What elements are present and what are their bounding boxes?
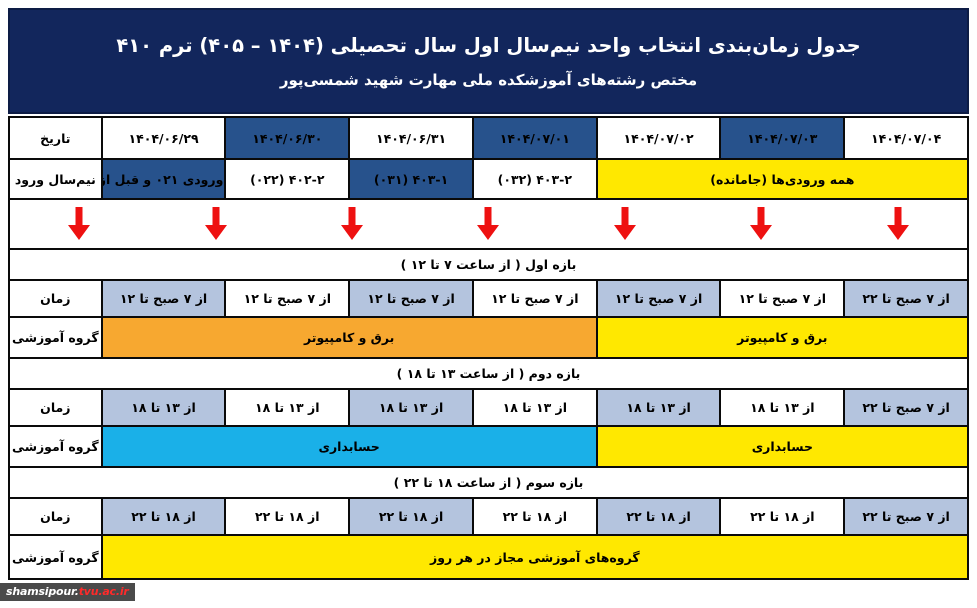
band-title-2: بازه دوم ( از ساعت ۱۳ تا ۱۸ ) — [9, 358, 968, 389]
table-row-entry-terms: همه ورودی‌ها (جامانده) ۴۰۳-۲ (۰۳۲) ۴۰۳-۱… — [9, 159, 968, 199]
table-row-band1-groups: برق و کامپیوتر برق و کامپیوتر گروه آموزش… — [9, 317, 968, 358]
band-title-3: بازه سوم ( از ساعت ۱۸ تا ۲۲ ) — [9, 467, 968, 498]
table-row-band-title-1: بازه اول ( از ساعت ۷ تا ۱۲ ) — [9, 249, 968, 280]
entry-term-cell-3: ۴۰۳-۱ (۰۳۱) — [349, 159, 473, 199]
arrow-strip-cell — [9, 199, 968, 249]
page-subtitle: مختص رشته‌های آموزشکده ملی مهارت شهید شم… — [280, 71, 697, 89]
table-row-final-groups: گروه‌های آموزشی مجاز در هر روز گروه آموز… — [9, 535, 968, 579]
arrow-slot-3 — [284, 206, 420, 242]
band3-time-cell-7: از ۷ صبح تا ۲۲ — [844, 498, 968, 535]
table-row-band2-groups: حسابداری حسابداری گروه آموزشی — [9, 426, 968, 467]
row-label-date: تاریخ — [9, 117, 102, 159]
entry-term-cell-4: ۴۰۳-۲ (۰۳۲) — [473, 159, 597, 199]
table-row-arrows — [9, 199, 968, 249]
row-label-entry-term: نیم‌سال ورود — [9, 159, 102, 199]
table-row-band-title-3: بازه سوم ( از ساعت ۱۸ تا ۲۲ ) — [9, 467, 968, 498]
band1-time-cell-2: از ۷ صبح تا ۱۲ — [225, 280, 349, 317]
band3-time-cell-2: از ۱۸ تا ۲۲ — [225, 498, 349, 535]
row-label-group-3: گروه آموزشی — [9, 535, 102, 579]
table-row-band3-times: از ۷ صبح تا ۲۲ از ۱۸ تا ۲۲ از ۱۸ تا ۲۲ ا… — [9, 498, 968, 535]
schedule-table: ۱۴۰۴/۰۷/۰۴ ۱۴۰۴/۰۷/۰۳ ۱۴۰۴/۰۷/۰۲ ۱۴۰۴/۰۷… — [8, 116, 969, 580]
arrow-down-icon — [612, 206, 638, 242]
band1-time-cell-5: از ۷ صبح تا ۱۲ — [597, 280, 721, 317]
table-row-band1-times: از ۷ صبح تا ۲۲ از ۷ صبح تا ۱۲ از ۷ صبح ت… — [9, 280, 968, 317]
arrow-slot-2 — [147, 206, 283, 242]
page-title: جدول زمان‌بندی انتخاب واحد نیم‌سال اول س… — [116, 34, 860, 57]
arrow-slot-6 — [693, 206, 829, 242]
band1-time-cell-7: از ۷ صبح تا ۲۲ — [844, 280, 968, 317]
band3-time-cell-1: از ۱۸ تا ۲۲ — [102, 498, 226, 535]
band2-time-cell-4: از ۱۳ تا ۱۸ — [473, 389, 597, 426]
arrow-slot-5 — [557, 206, 693, 242]
band1-time-cell-1: از ۷ صبح تا ۱۲ — [102, 280, 226, 317]
date-cell-3: ۱۴۰۴/۰۶/۳۱ — [349, 117, 473, 159]
band1-group-primary: برق و کامپیوتر — [102, 317, 597, 358]
band2-group-secondary: حسابداری — [597, 426, 968, 467]
final-row-text: گروه‌های آموزشی مجاز در هر روز — [102, 535, 968, 579]
site-watermark: shamsipour.tvu.ac.ir — [0, 583, 135, 601]
band2-group-primary: حسابداری — [102, 426, 597, 467]
date-cell-7: ۱۴۰۴/۰۷/۰۴ — [844, 117, 968, 159]
band2-time-cell-3: از ۱۳ تا ۱۸ — [349, 389, 473, 426]
table-row-dates: ۱۴۰۴/۰۷/۰۴ ۱۴۰۴/۰۷/۰۳ ۱۴۰۴/۰۷/۰۲ ۱۴۰۴/۰۷… — [9, 117, 968, 159]
band1-time-cell-3: از ۷ صبح تا ۱۲ — [349, 280, 473, 317]
band3-time-cell-6: از ۱۸ تا ۲۲ — [720, 498, 844, 535]
band2-time-cell-2: از ۱۳ تا ۱۸ — [225, 389, 349, 426]
band2-time-cell-5: از ۱۳ تا ۱۸ — [597, 389, 721, 426]
band2-time-cell-7: از ۷ صبح تا ۲۲ — [844, 389, 968, 426]
row-label-group-2: گروه آموزشی — [9, 426, 102, 467]
arrow-down-icon — [885, 206, 911, 242]
arrow-strip — [11, 202, 966, 246]
row-label-time-3: زمان — [9, 498, 102, 535]
band1-time-cell-6: از ۷ صبح تا ۱۲ — [720, 280, 844, 317]
band-title-1: بازه اول ( از ساعت ۷ تا ۱۲ ) — [9, 249, 968, 280]
band2-time-cell-6: از ۱۳ تا ۱۸ — [720, 389, 844, 426]
table-row-band-title-2: بازه دوم ( از ساعت ۱۳ تا ۱۸ ) — [9, 358, 968, 389]
date-cell-6: ۱۴۰۴/۰۷/۰۳ — [720, 117, 844, 159]
date-cell-5: ۱۴۰۴/۰۷/۰۲ — [597, 117, 721, 159]
date-cell-4: ۱۴۰۴/۰۷/۰۱ — [473, 117, 597, 159]
row-label-time-1: زمان — [9, 280, 102, 317]
date-cell-1: ۱۴۰۴/۰۶/۲۹ — [102, 117, 226, 159]
arrow-down-icon — [475, 206, 501, 242]
arrow-down-icon — [339, 206, 365, 242]
band3-time-cell-4: از ۱۸ تا ۲۲ — [473, 498, 597, 535]
entry-term-merged-cell: همه ورودی‌ها (جامانده) — [597, 159, 968, 199]
band2-time-cell-1: از ۱۳ تا ۱۸ — [102, 389, 226, 426]
table-row-band2-times: از ۷ صبح تا ۲۲ از ۱۳ تا ۱۸ از ۱۳ تا ۱۸ ا… — [9, 389, 968, 426]
schedule-page: جدول زمان‌بندی انتخاب واحد نیم‌سال اول س… — [0, 0, 977, 608]
arrow-slot-1 — [11, 206, 147, 242]
band3-time-cell-5: از ۱۸ تا ۲۲ — [597, 498, 721, 535]
band1-group-secondary: برق و کامپیوتر — [597, 317, 968, 358]
arrow-down-icon — [203, 206, 229, 242]
row-label-time-2: زمان — [9, 389, 102, 426]
arrow-slot-4 — [420, 206, 556, 242]
entry-term-cell-2: ۴۰۲-۲ (۰۲۲) — [225, 159, 349, 199]
watermark-suffix: tvu.ac.ir — [79, 585, 129, 598]
arrow-down-icon — [748, 206, 774, 242]
band1-time-cell-4: از ۷ صبح تا ۱۲ — [473, 280, 597, 317]
page-header-banner: جدول زمان‌بندی انتخاب واحد نیم‌سال اول س… — [8, 8, 969, 114]
watermark-prefix: shamsipour. — [6, 585, 79, 598]
entry-term-cell-1: ورودی ۰۲۱ و قبل از آن — [102, 159, 226, 199]
band3-time-cell-3: از ۱۸ تا ۲۲ — [349, 498, 473, 535]
arrow-slot-7 — [830, 206, 966, 242]
date-cell-2: ۱۴۰۴/۰۶/۳۰ — [225, 117, 349, 159]
row-label-group-1: گروه آموزشی — [9, 317, 102, 358]
arrow-down-icon — [66, 206, 92, 242]
